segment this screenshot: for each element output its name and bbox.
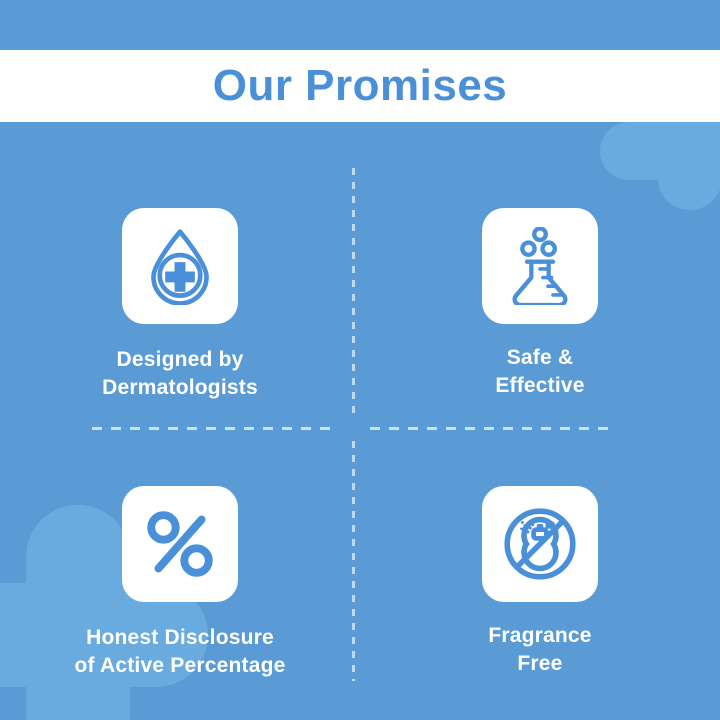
promise-item-safe-and-effective: Safe & Effective — [360, 150, 720, 430]
promise-label: Safe & Effective — [495, 344, 584, 400]
flask-bubbles-icon — [503, 227, 577, 305]
promise-item-fragrance-free: Fragrance Free — [360, 430, 720, 710]
header-banner: Our Promises — [0, 50, 720, 122]
promise-item-honest-disclosure: Honest Disclosure of Active Percentage — [0, 430, 360, 710]
promise-item-designed-by-dermatologists: Designed by Dermatologists — [0, 150, 360, 430]
promises-infographic: Our Promises Designed by Dermatologists — [0, 0, 720, 720]
droplet-plus-icon — [141, 227, 219, 305]
percent-icon — [144, 508, 216, 580]
icon-tile-fragrance-free — [482, 486, 598, 602]
no-perfume-icon — [500, 504, 580, 584]
promise-label: Honest Disclosure of Active Percentage — [75, 624, 286, 680]
icon-tile-safe-and-effective — [482, 208, 598, 324]
promise-label: Fragrance Free — [488, 622, 591, 678]
icon-tile-honest-disclosure — [122, 486, 238, 602]
icon-tile-designed-by-dermatologists — [122, 208, 238, 324]
page-title: Our Promises — [213, 64, 508, 108]
promise-label: Designed by Dermatologists — [102, 346, 258, 402]
promise-grid: Designed by Dermatologists S — [0, 150, 720, 710]
